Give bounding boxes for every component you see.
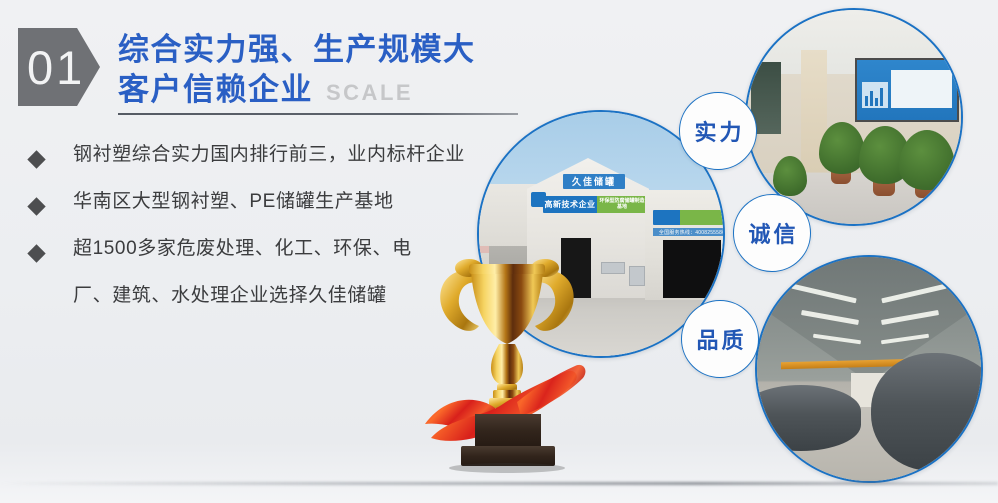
bar-chart-icon [862, 82, 888, 108]
headline-line-2: 客户信赖企业 SCALE [118, 70, 476, 110]
photo-collage: 久佳储罐 高新技术企业 环保型防腐储罐制造基地 全国服务热线：400825558… [455, 0, 998, 503]
list-item-line: 钢衬塑综合实力国内排行前三，业内标杆企业 [73, 145, 465, 164]
headline-text-group: 综合实力强、生产规模大 客户信赖企业 SCALE [118, 28, 476, 109]
company-name-sign: 久佳储罐 [563, 174, 625, 189]
promo-banner: 01 综合实力强、生产规模大 客户信赖企业 SCALE 钢衬塑综合实力国内排行前… [0, 0, 998, 503]
banner-right-text: 环保型防腐储罐制造基地 [597, 199, 647, 210]
banner-left-text: 高新技术企业 [545, 199, 596, 210]
headline-row: 01 综合实力强、生产规模大 客户信赖企业 SCALE [18, 28, 476, 109]
secondary-banner-right [680, 210, 725, 225]
information-board-panel [891, 70, 952, 108]
banner-right-segment: 环保型防腐储罐制造基地 [597, 196, 647, 213]
section-number-badge: 01 [18, 28, 100, 106]
hotline-text: 全国服务热线：4008255586 [659, 229, 725, 236]
label-circle-strength-text: 实力 [691, 115, 744, 147]
headline-line-2-chinese: 客户信赖企业 [118, 70, 313, 110]
hi-tech-enterprise-banner: 高新技术企业 环保型防腐储罐制造基地 [543, 196, 647, 213]
label-circle-strength: 实力 [679, 92, 757, 170]
list-item-line: 华南区大型钢衬塑、PE储罐生产基地 [73, 192, 394, 211]
list-item-line: 超1500多家危废处理、化工、环保、电 [73, 239, 412, 258]
label-circle-integrity-text: 诚信 [745, 217, 798, 249]
list-item: 华南区大型钢衬塑、PE储罐生产基地 [18, 192, 498, 213]
banner-left-segment: 高新技术企业 [543, 196, 597, 213]
label-circle-quality: 品质 [681, 300, 759, 378]
list-item: 钢衬塑综合实力国内排行前三，业内标杆企业 [18, 145, 498, 166]
window [601, 262, 625, 274]
secondary-banner [653, 210, 725, 225]
headline-line-1: 综合实力强、生产规模大 [118, 30, 476, 70]
list-item-body: 华南区大型钢衬塑、PE储罐生产基地 [73, 192, 394, 211]
diamond-bullet-icon [27, 150, 45, 168]
list-item-body: 超1500多家危废处理、化工、环保、电 厂、建筑、水处理企业选择久佳储罐 [73, 239, 412, 305]
label-circle-quality-text: 品质 [693, 323, 746, 355]
list-item-body: 钢衬塑综合实力国内排行前三，业内标杆企业 [73, 145, 465, 164]
secondary-banner-left [653, 210, 680, 225]
window [629, 266, 645, 286]
office-corridor-photo [745, 8, 963, 226]
label-circle-integrity: 诚信 [733, 194, 811, 272]
diamond-bullet-icon [27, 244, 45, 262]
company-name-sign-text: 久佳储罐 [572, 175, 616, 189]
headline-line-2-english: SCALE [326, 79, 413, 107]
section-number-text: 01 [27, 44, 85, 91]
workshop-interior-photo [755, 255, 983, 483]
storage-tank [871, 353, 983, 471]
storage-tank [755, 385, 861, 451]
hotline-strip: 全国服务热线：4008255586 [653, 228, 725, 236]
diamond-bullet-icon [27, 197, 45, 215]
bottom-shadow-line [0, 482, 998, 485]
list-item-line: 厂、建筑、水处理企业选择久佳储罐 [73, 286, 412, 305]
warehouse-door [663, 240, 721, 298]
trophy-icon [417, 226, 597, 476]
information-board [855, 58, 959, 122]
